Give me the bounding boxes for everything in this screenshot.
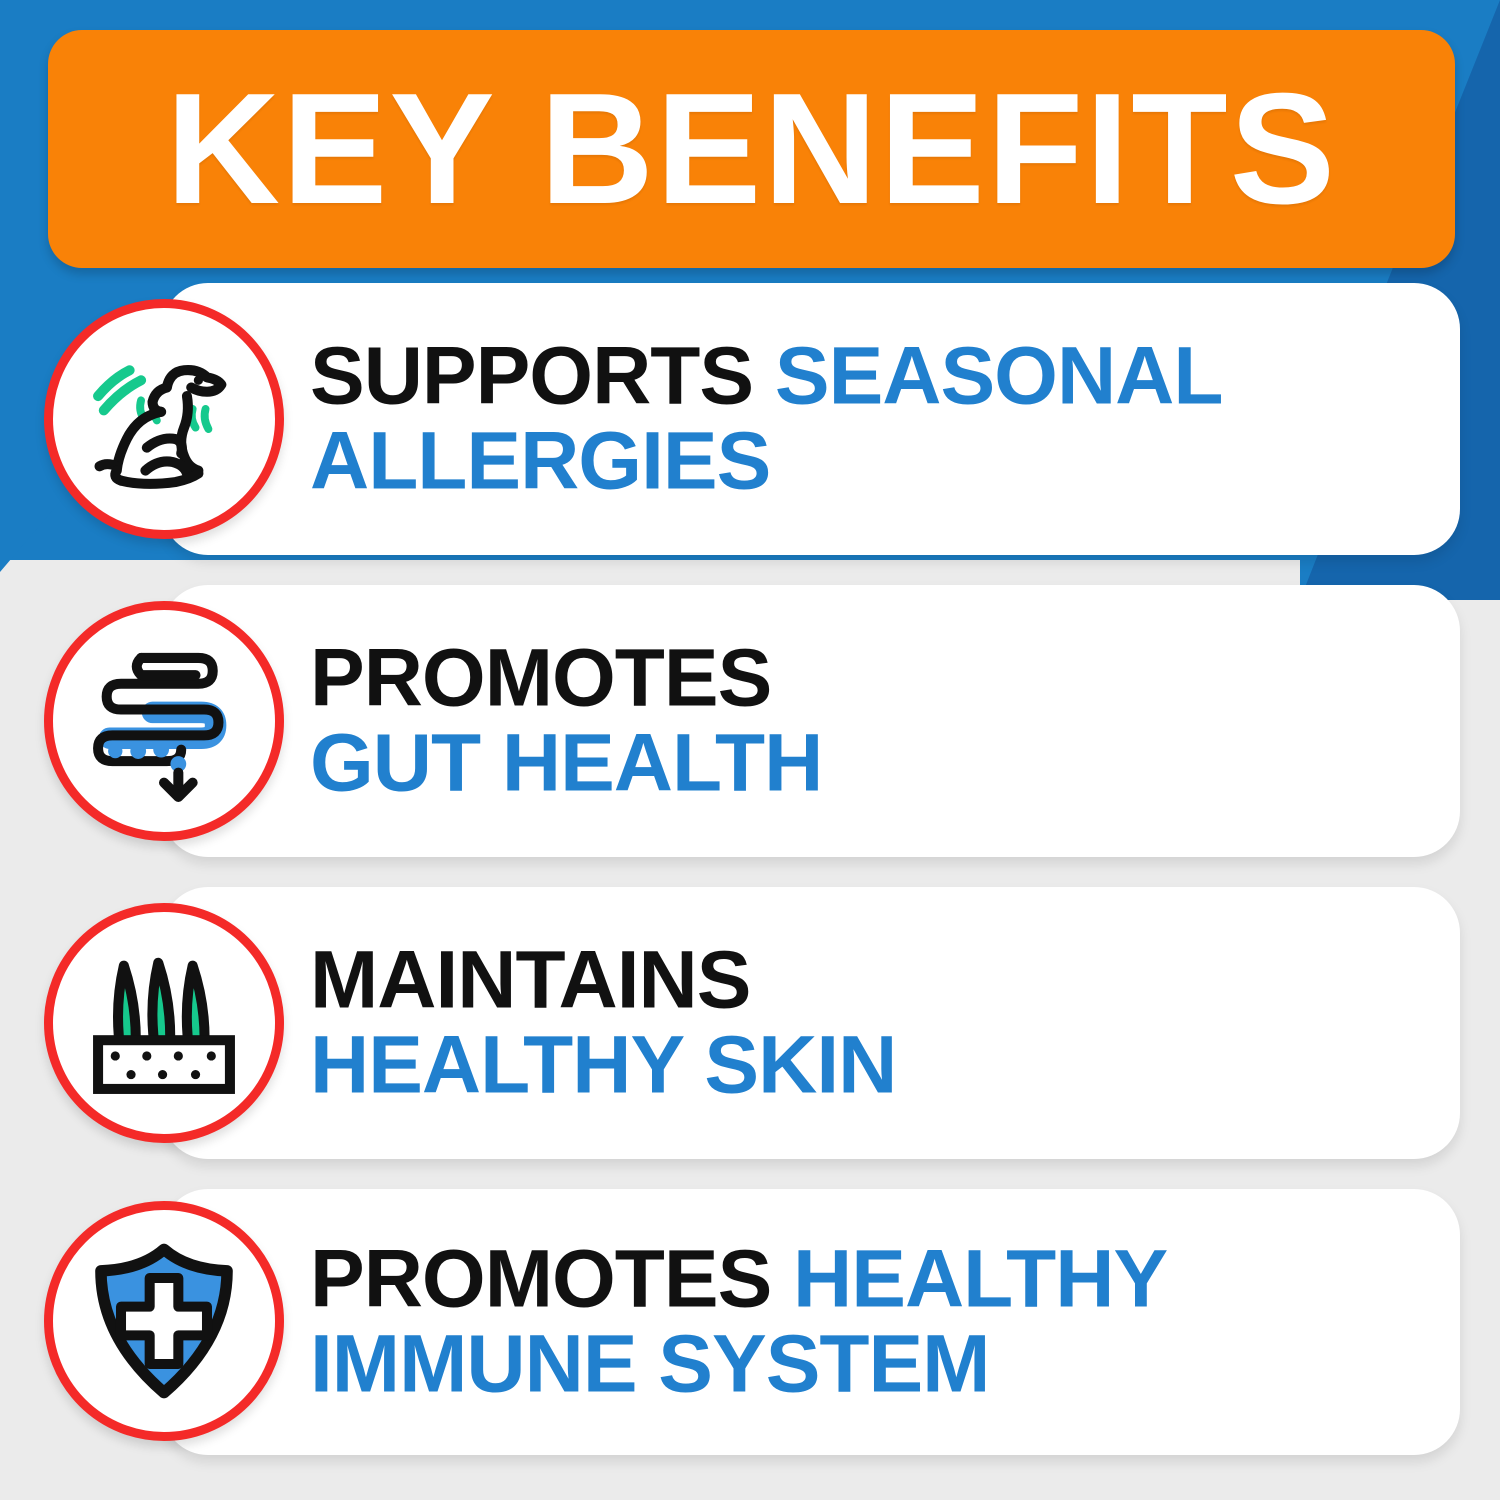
benefit-text-3: MAINTAINS HEALTHY SKIN [310,938,896,1109]
benefit-line-2b: GUT HEALTH [310,721,822,806]
benefit-line-4a: PROMOTES HEALTHY [310,1237,1167,1322]
benefit-line-2a: PROMOTES [310,636,822,721]
benefit-line-1b: ALLERGIES [310,419,1222,504]
benefit-icon-badge-2 [44,601,284,841]
key-benefits-banner: KEY BENEFITS [48,30,1455,268]
benefit-text-2: PROMOTES GUT HEALTH [310,636,822,807]
benefit-card-healthy-skin[interactable]: MAINTAINS HEALTHY SKIN [162,887,1460,1159]
benefit-blue-text-4: HEALTHY [793,1234,1167,1325]
shield-cross-immune-icon [78,1235,250,1407]
skin-hair-follicle-icon [78,937,250,1109]
benefit-text-1: SUPPORTS SEASONAL ALLERGIES [310,334,1222,505]
benefit-icon-badge-1 [44,299,284,539]
benefit-text-4: PROMOTES HEALTHY IMMUNE SYSTEM [310,1237,1167,1408]
dog-scratching-icon [78,333,250,505]
header-banner-wrap: KEY BENEFITS [48,30,1455,268]
benefit-line-1a: SUPPORTS SEASONAL [310,334,1222,419]
benefit-blue-text-1: SEASONAL [775,331,1223,422]
benefit-black-text-4: PROMOTES [310,1234,793,1325]
page-title: KEY BENEFITS [166,70,1337,228]
benefit-icon-badge-4 [44,1201,284,1441]
benefit-card-immune-system[interactable]: PROMOTES HEALTHY IMMUNE SYSTEM [162,1189,1460,1455]
skin-layer-box [98,1040,230,1089]
benefit-icon-badge-3 [44,903,284,1143]
intestine-gut-icon [78,635,250,807]
gut-down-arrow [164,773,193,797]
benefit-black-text-1: SUPPORTS [310,331,775,422]
dog-eye [194,376,203,385]
benefit-card-seasonal-allergies[interactable]: SUPPORTS SEASONAL ALLERGIES [162,283,1460,555]
benefit-line-4b: IMMUNE SYSTEM [310,1322,1167,1407]
benefit-line-3a: MAINTAINS [310,938,896,1023]
benefit-card-gut-health[interactable]: PROMOTES GUT HEALTH [162,585,1460,857]
benefit-line-3b: HEALTHY SKIN [310,1023,896,1108]
